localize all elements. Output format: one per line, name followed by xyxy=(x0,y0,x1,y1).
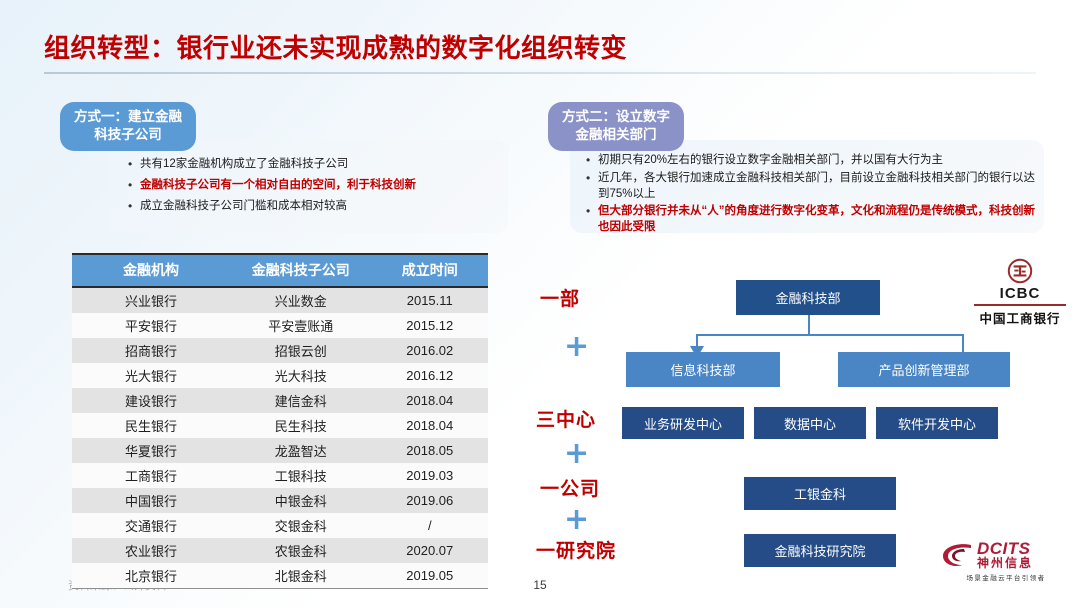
org-node-product-innovation[interactable]: 产品创新管理部 xyxy=(838,352,1010,387)
table-cell: 2018.05 xyxy=(372,438,488,463)
bullet-dot-icon: • xyxy=(586,170,598,187)
table-cell: 平安壹账通 xyxy=(230,313,371,338)
bullet-text: 初期只有20%左右的银行设立数字金融相关部门，并以国有大行为主 xyxy=(598,152,943,168)
bullet-text: 近几年，各大银行加速成立金融科技相关部门，目前设立金融科技相关部门的银行以达到7… xyxy=(598,170,1042,202)
table-row: 建设银行 建信金科 2018.04 xyxy=(72,388,488,413)
table-cell: 龙盈智达 xyxy=(230,438,371,463)
table-row: 民生银行 民生科技 2018.04 xyxy=(72,413,488,438)
table-row: 交通银行 交银金科 / xyxy=(72,513,488,538)
callout-tag-method-one: 方式一：建立金融 科技子公司 xyxy=(60,102,196,151)
bullet-dot-icon: • xyxy=(586,203,598,220)
plus-separator-icon: + xyxy=(564,332,589,362)
page-title-wrap: 组织转型：银行业还未实现成熟的数字化组织转变 xyxy=(44,28,1044,65)
bullet-dot-icon: • xyxy=(128,156,140,173)
table-row: 招商银行 招银云创 2016.02 xyxy=(72,338,488,363)
table-row: 中国银行 中银金科 2019.06 xyxy=(72,488,488,513)
table-cell: 北银金科 xyxy=(230,563,371,589)
dcits-logo-cn: 神州信息 xyxy=(977,557,1033,569)
plus-separator-icon: + xyxy=(564,439,589,469)
table-cell: 中国银行 xyxy=(72,488,230,513)
table-cell: 中银金科 xyxy=(230,488,371,513)
org-node-root[interactable]: 金融科技部 xyxy=(736,280,880,315)
table-header-cell: 金融科技子公司 xyxy=(230,254,371,287)
table-row: 北京银行 北银金科 2019.05 xyxy=(72,563,488,589)
org-node-software-dev-center[interactable]: 软件开发中心 xyxy=(876,407,998,439)
bullet-text: 金融科技子公司有一个相对自由的空间，利于科技创新 xyxy=(140,177,416,194)
org-connector-drop-right xyxy=(962,334,964,352)
table-cell: 建信金科 xyxy=(230,388,371,413)
table-cell: 民生银行 xyxy=(72,413,230,438)
icbc-logo-divider xyxy=(974,304,1066,306)
table-cell: 工银科技 xyxy=(230,463,371,488)
org-node-it-department[interactable]: 信息科技部 xyxy=(626,352,780,387)
callout-bullets-left: • 共有12家金融机构成立了金融科技子公司 • 金融科技子公司有一个相对自由的空… xyxy=(128,156,506,219)
bullet-item: • 共有12家金融机构成立了金融科技子公司 xyxy=(128,156,506,173)
org-node-data-center[interactable]: 数据中心 xyxy=(754,407,866,439)
table-cell: 2015.11 xyxy=(372,287,488,313)
table-cell: 2016.12 xyxy=(372,363,488,388)
slide-root: 组织转型：银行业还未实现成熟的数字化组织转变 方式一：建立金融 科技子公司 • … xyxy=(0,0,1080,608)
table-cell: 招商银行 xyxy=(72,338,230,363)
table-cell: 招银云创 xyxy=(230,338,371,363)
table-cell: 2020.07 xyxy=(372,538,488,563)
dcits-logo: DCITS 神州信息 场景金融云平台引领者 xyxy=(940,540,1072,582)
org-connector-vertical xyxy=(808,314,810,336)
table-row: 平安银行 平安壹账通 2015.12 xyxy=(72,313,488,338)
icbc-emblem-icon xyxy=(1007,258,1033,284)
table-cell: 交通银行 xyxy=(72,513,230,538)
table-cell: 2018.04 xyxy=(372,388,488,413)
org-connector-horizontal xyxy=(696,334,964,336)
bullet-item: • 金融科技子公司有一个相对自由的空间，利于科技创新 xyxy=(128,177,506,194)
table-cell: 2016.02 xyxy=(372,338,488,363)
org-group-label-one-department: 一部 xyxy=(540,284,580,311)
bullet-item: • 近几年，各大银行加速成立金融科技相关部门，目前设立金融科技相关部门的银行以达… xyxy=(586,170,1042,202)
icbc-logo: ICBC 中国工商银行 xyxy=(972,258,1068,327)
org-group-label-three-centers: 三中心 xyxy=(536,405,596,432)
plus-separator-icon: + xyxy=(564,505,589,535)
bullet-dot-icon: • xyxy=(128,198,140,215)
icbc-logo-cn: 中国工商银行 xyxy=(972,308,1068,327)
table-cell: 2018.04 xyxy=(372,413,488,438)
org-group-label-one-institute: 一研究院 xyxy=(536,536,616,563)
table-row: 工商银行 工银科技 2019.03 xyxy=(72,463,488,488)
table-cell: 建设银行 xyxy=(72,388,230,413)
table-cell: 民生科技 xyxy=(230,413,371,438)
title-divider xyxy=(44,72,1036,74)
table-header-row: 金融机构 金融科技子公司 成立时间 xyxy=(72,254,488,287)
bullet-dot-icon: • xyxy=(128,177,140,194)
callout-tag-method-two: 方式二：设立数字 金融相关部门 xyxy=(548,102,684,151)
table-cell: 华夏银行 xyxy=(72,438,230,463)
table-header-cell: 成立时间 xyxy=(372,254,488,287)
table-cell: 农银金科 xyxy=(230,538,371,563)
org-group-label-one-company: 一公司 xyxy=(540,474,600,501)
table-cell: 交银金科 xyxy=(230,513,371,538)
callout-bullets-right: • 初期只有20%左右的银行设立数字金融相关部门，并以国有大行为主 • 近几年，… xyxy=(586,152,1042,236)
table-row: 华夏银行 龙盈智达 2018.05 xyxy=(72,438,488,463)
table-cell: 光大科技 xyxy=(230,363,371,388)
bullet-text: 共有12家金融机构成立了金融科技子公司 xyxy=(140,156,348,173)
table-cell: 兴业数金 xyxy=(230,287,371,313)
table-row: 兴业银行 兴业数金 2015.11 xyxy=(72,287,488,313)
table-cell: 农业银行 xyxy=(72,538,230,563)
table-cell: 2019.03 xyxy=(372,463,488,488)
table-cell: / xyxy=(372,513,488,538)
table-cell: 北京银行 xyxy=(72,563,230,589)
table-cell: 2019.05 xyxy=(372,563,488,589)
page-title: 组织转型：银行业还未实现成熟的数字化组织转变 xyxy=(44,28,1044,65)
table-cell: 光大银行 xyxy=(72,363,230,388)
bullet-item: • 成立金融科技子公司门槛和成本相对较高 xyxy=(128,198,506,215)
bullet-dot-icon: • xyxy=(586,152,598,169)
org-node-business-rd-center[interactable]: 业务研发中心 xyxy=(622,407,744,439)
org-node-icbc-fintech-company[interactable]: 工银金科 xyxy=(744,477,896,510)
table-cell: 工商银行 xyxy=(72,463,230,488)
icbc-logo-en: ICBC xyxy=(972,285,1068,302)
table-row: 农业银行 农银金科 2020.07 xyxy=(72,538,488,563)
dcits-slogan: 场景金融云平台引领者 xyxy=(940,572,1072,582)
bullet-text: 但大部分银行并未从“人”的角度进行数字化变革，文化和流程仍是传统模式，科技创新也… xyxy=(598,203,1042,235)
table-header-cell: 金融机构 xyxy=(72,254,230,287)
bullet-item: • 初期只有20%左右的银行设立数字金融相关部门，并以国有大行为主 xyxy=(586,152,1042,169)
org-node-fintech-institute[interactable]: 金融科技研究院 xyxy=(744,534,896,567)
table-row: 光大银行 光大科技 2016.12 xyxy=(72,363,488,388)
table-cell: 2015.12 xyxy=(372,313,488,338)
dcits-swoosh-icon xyxy=(940,541,974,569)
table-cell: 2019.06 xyxy=(372,488,488,513)
table-cell: 平安银行 xyxy=(72,313,230,338)
table-cell: 兴业银行 xyxy=(72,287,230,313)
bullet-item: • 但大部分银行并未从“人”的角度进行数字化变革，文化和流程仍是传统模式，科技创… xyxy=(586,203,1042,235)
dcits-logo-en: DCITS xyxy=(977,540,1033,557)
fintech-subsidiary-table: 金融机构 金融科技子公司 成立时间 兴业银行 兴业数金 2015.11 平安银行… xyxy=(72,253,488,589)
bullet-text: 成立金融科技子公司门槛和成本相对较高 xyxy=(140,198,347,215)
